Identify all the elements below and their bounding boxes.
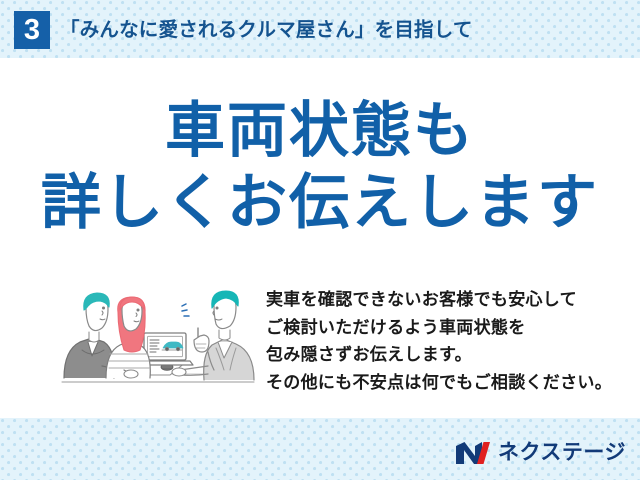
body-copy: 実車を確認できないお客様でも安心して ご検討いただけるよう車両状態を 包み隠さず… <box>266 286 612 396</box>
header-title-text: 「みんなに愛されるクルマ屋さん」を目指して <box>60 19 473 41</box>
header-title: 「みんなに愛されるクルマ屋さん」を目指して <box>60 15 473 45</box>
page-title: 車両状態も 詳しくお伝えします <box>0 96 640 240</box>
brand-name: ネクステージ <box>498 440 626 466</box>
banner-root: 3 「みんなに愛されるクルマ屋さん」を目指して 車両状態も 詳しくお伝えします <box>0 0 640 480</box>
body-copy-line-4: その他にも不安点は何でもご相談ください。 <box>266 369 612 397</box>
headline-line-2: 詳しくお伝えします <box>0 166 640 240</box>
nextage-n-mark-icon <box>455 440 491 466</box>
headline-line-1: 車両状態も <box>0 96 640 166</box>
consultation-illustration <box>58 278 258 390</box>
brand-logo: ネクステージ <box>455 438 626 468</box>
body-copy-line-2: ご検討いただけるよう車両状態を <box>266 314 612 342</box>
body-copy-line-1: 実車を確認できないお客様でも安心して <box>266 286 612 314</box>
body-copy-line-3: 包み隠さずお伝えします。 <box>266 341 612 369</box>
step-number-badge: 3 <box>14 11 50 49</box>
